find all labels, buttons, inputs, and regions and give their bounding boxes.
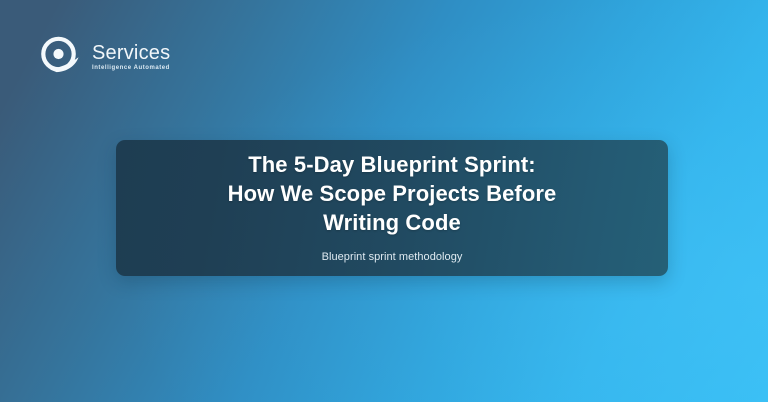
brand-wordmark: Services bbox=[92, 43, 170, 63]
title-card: The 5-Day Blueprint Sprint: How We Scope… bbox=[116, 140, 668, 276]
slide-canvas: Services Intelligence Automated The 5-Da… bbox=[0, 0, 768, 402]
page-title-line-2: How We Scope Projects Before bbox=[228, 179, 557, 208]
page-title-line-3: Writing Code bbox=[228, 208, 557, 237]
q-ring-swoosh-logo-icon bbox=[38, 34, 86, 78]
page-title-line-1: The 5-Day Blueprint Sprint: bbox=[228, 150, 557, 179]
brand-logo: Services Intelligence Automated bbox=[38, 34, 170, 78]
page-title: The 5-Day Blueprint Sprint: How We Scope… bbox=[228, 150, 557, 237]
page-subtitle: Blueprint sprint methodology bbox=[322, 250, 463, 264]
brand-tagline: Intelligence Automated bbox=[92, 65, 170, 71]
brand-logo-text: Services Intelligence Automated bbox=[92, 41, 170, 71]
